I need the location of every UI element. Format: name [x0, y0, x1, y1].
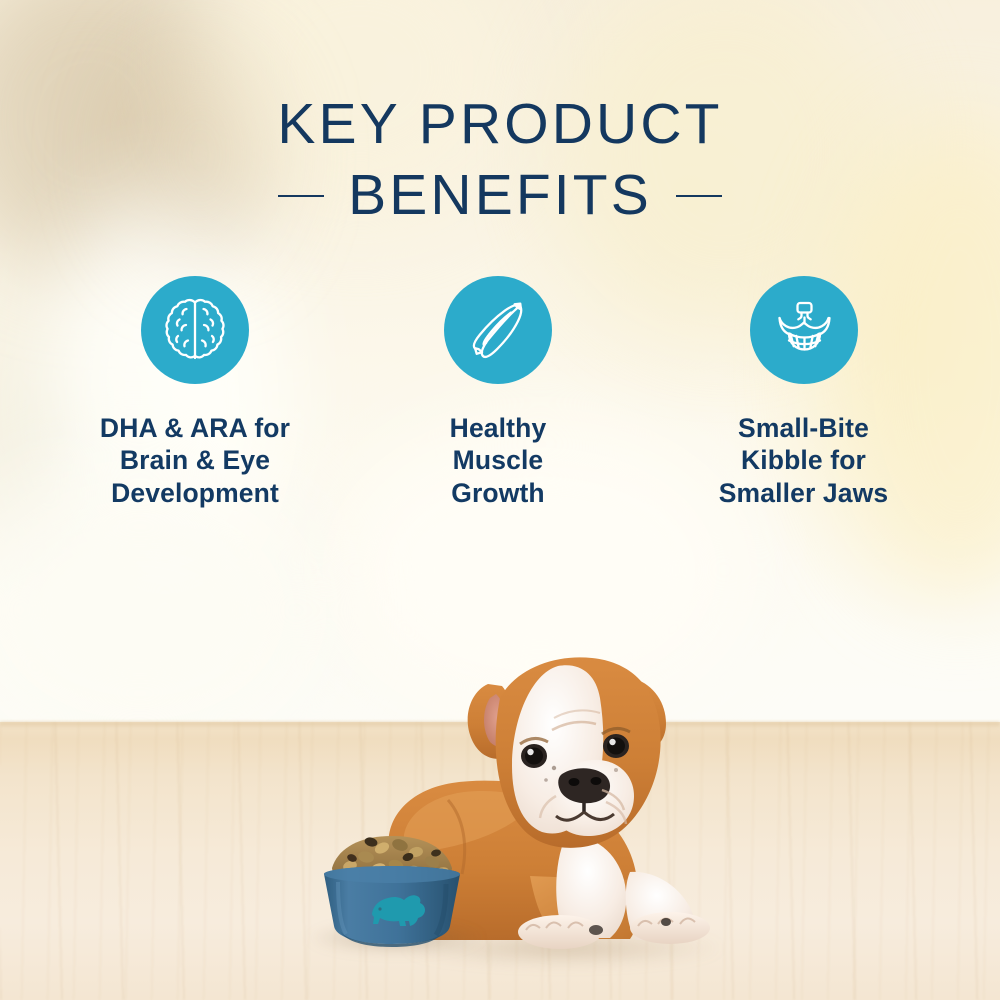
background-bokeh-blob: [0, 470, 320, 750]
benefit-label-line: Healthy: [368, 412, 628, 444]
benefit-label-line: Brain & Eye: [45, 444, 345, 476]
muscle-fiber-icon: [444, 276, 552, 384]
benefit-label-line: DHA & ARA for: [45, 412, 345, 444]
benefit-label-line: Muscle: [368, 444, 628, 476]
benefit-label-line: Growth: [368, 477, 628, 509]
title-line-2: BENEFITS: [348, 167, 652, 224]
title-dash-right-icon: [676, 195, 722, 197]
title-line-1: KEY PRODUCT: [0, 96, 1000, 153]
benefit-item-brain: DHA & ARA for Brain & Eye Development: [45, 276, 345, 509]
benefit-label-line: Small-Bite: [665, 412, 942, 444]
benefit-label-line: Development: [45, 477, 345, 509]
title-line-2-row: BENEFITS: [0, 167, 1000, 224]
dog-food-bowl: [316, 826, 468, 948]
benefit-label-brain: DHA & ARA for Brain & Eye Development: [45, 412, 345, 509]
benefit-label-kibble: Small-Bite Kibble for Smaller Jaws: [665, 412, 942, 509]
title-dash-left-icon: [278, 195, 324, 197]
page-title: KEY PRODUCT BENEFITS: [0, 96, 1000, 224]
brain-icon: [141, 276, 249, 384]
benefit-label-line: Kibble for: [665, 444, 942, 476]
product-benefits-banner: KEY PRODUCT BENEFITS: [0, 0, 1000, 1000]
jaw-teeth-kibble-icon: [750, 276, 858, 384]
benefit-item-muscle: Healthy Muscle Growth: [368, 276, 628, 509]
benefit-label-muscle: Healthy Muscle Growth: [368, 412, 628, 509]
benefit-label-line: Smaller Jaws: [665, 477, 942, 509]
benefit-item-kibble: Small-Bite Kibble for Smaller Jaws: [665, 276, 942, 509]
